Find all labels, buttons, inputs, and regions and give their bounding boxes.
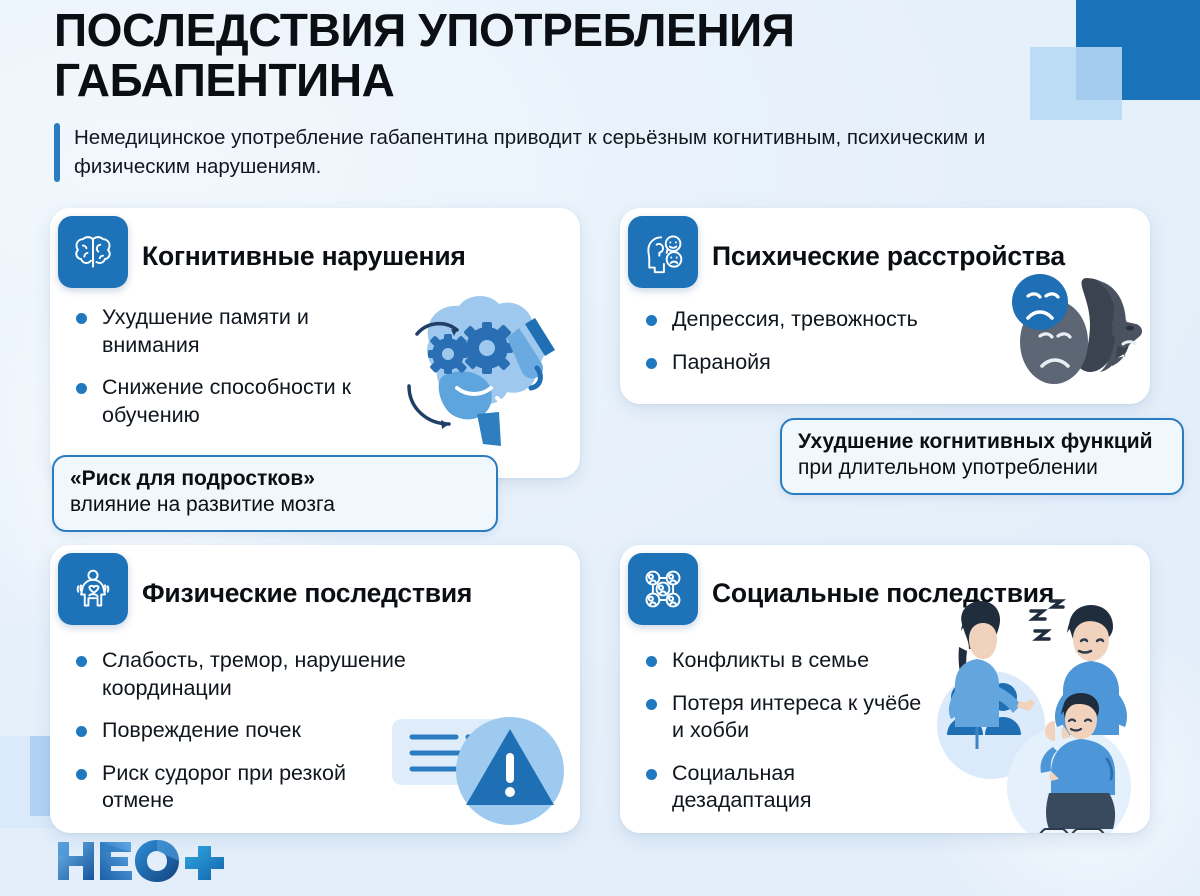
column-right: Психические расстройства Депрессия, трев… <box>620 208 1150 833</box>
card-bullets: Депрессия, тревожность Паранойя <box>620 300 1150 398</box>
callout-long-term: Ухудшение когнитивных функций при длител… <box>780 418 1184 495</box>
card-social: Социальные последствия Конфликты в семье… <box>620 545 1150 833</box>
list-item: Паранойя <box>646 349 1132 377</box>
subtitle-block: Немедицинское употребление габапентина п… <box>54 123 1054 181</box>
brand-logo: НЕО+ <box>56 838 228 882</box>
list-item: Слабость, тремор, нарушение координации <box>76 647 472 702</box>
card-title: Психические расстройства <box>712 242 1065 271</box>
list-item: Повреждение почек <box>76 717 472 745</box>
callout-strong-text: «Риск для подростков» <box>70 467 315 490</box>
card-header: Физические последствия <box>50 545 580 637</box>
infographic-poster: ПОСЛЕДСТВИЯ УПОТРЕБЛЕНИЯ ГАБАПЕНТИНА Нем… <box>0 0 1200 896</box>
list-item: Социальная дезадаптация <box>646 760 902 815</box>
card-bullets: Ухудшение памяти и внимания Снижение спо… <box>50 300 580 451</box>
card-bullets: Конфликты в семье Потеря интереса к учёб… <box>620 637 1150 833</box>
callout-rest-text: влияние на развитие мозга <box>70 493 335 516</box>
list-item: Потеря интереса к учёбе и хобби <box>646 690 922 745</box>
card-header: Социальные последствия <box>620 545 1150 637</box>
list-item: Снижение способности к обучению <box>76 374 422 429</box>
people-network-icon <box>628 553 698 625</box>
list-item: Риск судорог при резкой отмене <box>76 760 382 815</box>
brain-icon <box>58 216 128 288</box>
card-title: Социальные последствия <box>712 579 1054 608</box>
card-cognitive: Когнитивные нарушения Ухудшение памяти и… <box>50 208 580 478</box>
list-item: Конфликты в семье <box>646 647 972 675</box>
card-title: Когнитивные нарушения <box>142 242 466 271</box>
callout-teens: «Риск для подростков» влияние на развити… <box>52 455 498 532</box>
card-header: Психические расстройства <box>620 208 1150 300</box>
card-title: Физические последствия <box>142 579 472 608</box>
list-item: Ухудшение памяти и внимания <box>76 304 402 359</box>
header: ПОСЛЕДСТВИЯ УПОТРЕБЛЕНИЯ ГАБАПЕНТИНА Нем… <box>54 6 1054 182</box>
card-header: Когнитивные нарушения <box>50 208 580 300</box>
card-mental: Психические расстройства Депрессия, трев… <box>620 208 1150 404</box>
head-emotions-icon <box>628 216 698 288</box>
page-subtitle: Немедицинское употребление габапентина п… <box>74 123 1029 181</box>
page-title: ПОСЛЕДСТВИЯ УПОТРЕБЛЕНИЯ ГАБАПЕНТИНА <box>54 6 1054 105</box>
body-organs-icon <box>58 553 128 625</box>
decorative-square-dark <box>1076 0 1200 100</box>
card-bullets: Слабость, тремор, нарушение координации … <box>50 637 580 833</box>
subtitle-accent-bar <box>54 123 60 181</box>
list-item: Депрессия, тревожность <box>646 306 1132 334</box>
card-physical: Физические последствия Слабость, тремор,… <box>50 545 580 833</box>
callout-strong-text: Ухудшение когнитивных функций <box>798 430 1153 453</box>
callout-rest-text: при длительном употреблении <box>798 456 1098 479</box>
